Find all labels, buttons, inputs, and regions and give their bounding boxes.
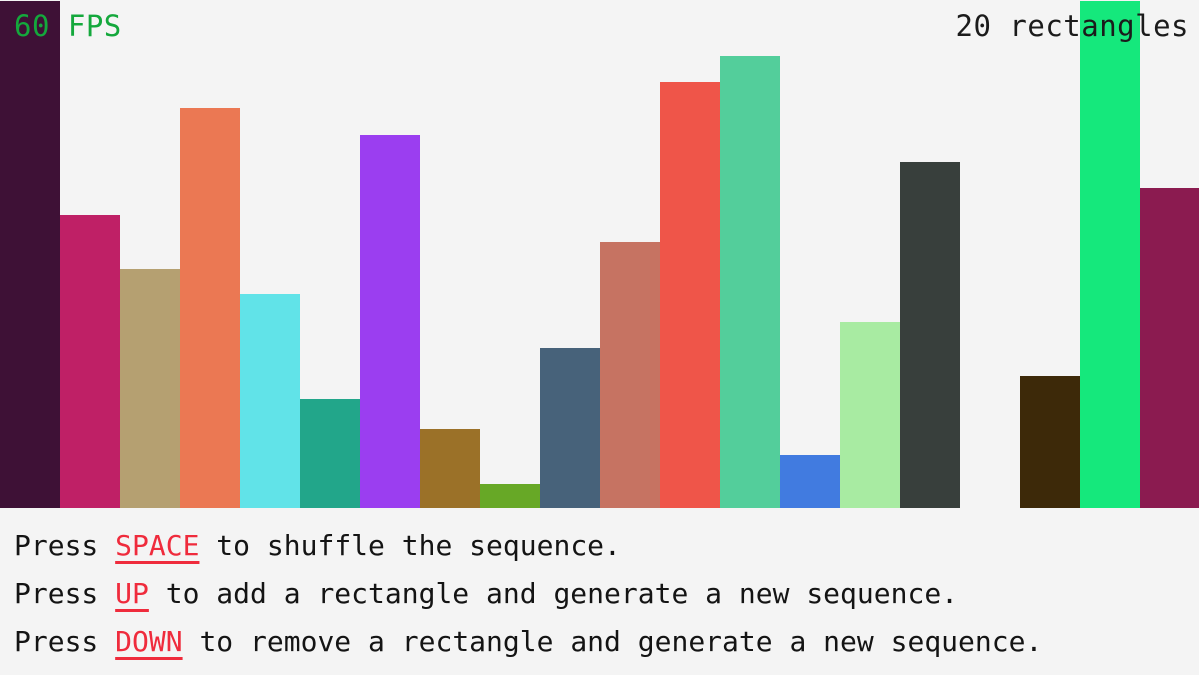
- instruction-suffix: to shuffle the sequence.: [199, 529, 620, 562]
- key-hint-down[interactable]: DOWN: [115, 625, 182, 658]
- instruction-prefix: Press: [14, 529, 115, 562]
- bar-9: [480, 484, 540, 508]
- fps-counter: 60 FPS: [14, 11, 122, 41]
- bar-16: [900, 162, 960, 508]
- rectangle-count-label: 20 rectangles: [956, 11, 1189, 41]
- bar-18: [1020, 376, 1080, 508]
- instruction-suffix: to add a rectangle and generate a new se…: [149, 577, 958, 610]
- key-hint-space[interactable]: SPACE: [115, 529, 199, 562]
- bar-14: [780, 455, 840, 508]
- bar-3: [120, 269, 180, 508]
- instruction-line-2: Press UP to add a rectangle and generate…: [14, 570, 1199, 618]
- bar-13: [720, 56, 780, 508]
- instruction-prefix: Press: [14, 625, 115, 658]
- instruction-line-1: Press SPACE to shuffle the sequence.: [14, 522, 1199, 570]
- instruction-suffix: to remove a rectangle and generate a new…: [183, 625, 1043, 658]
- instructions-panel: Press SPACE to shuffle the sequence.Pres…: [0, 508, 1199, 675]
- bar-6: [300, 399, 360, 508]
- bar-chart-canvas[interactable]: [0, 0, 1199, 508]
- bar-2: [60, 215, 120, 508]
- instruction-line-3: Press DOWN to remove a rectangle and gen…: [14, 618, 1199, 666]
- bar-10: [540, 348, 600, 508]
- bar-7: [360, 135, 420, 508]
- bar-11: [600, 242, 660, 508]
- bar-12: [660, 82, 720, 508]
- bar-8: [420, 429, 480, 508]
- bar-5: [240, 294, 300, 508]
- bar-4: [180, 108, 240, 508]
- instruction-prefix: Press: [14, 577, 115, 610]
- key-hint-up[interactable]: UP: [115, 577, 149, 610]
- bar-20: [1140, 188, 1199, 508]
- bar-15: [840, 322, 900, 508]
- rectangle-sequence-app: 60 FPS 20 rectangles Press SPACE to shuf…: [0, 0, 1199, 675]
- bar-19: [1080, 1, 1140, 508]
- bar-1: [0, 1, 60, 508]
